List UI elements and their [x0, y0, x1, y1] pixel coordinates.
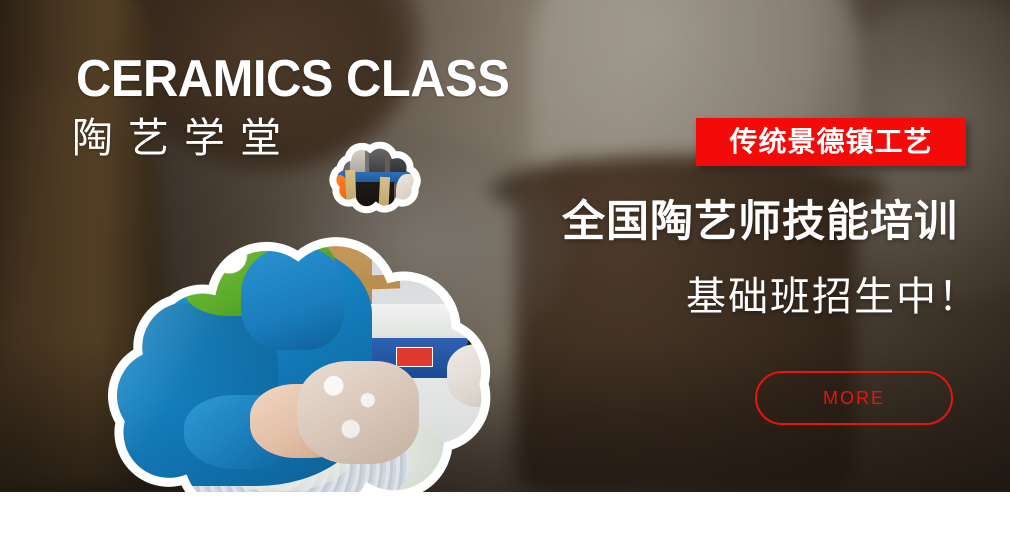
- headline-primary: 全国陶艺师技能培训: [562, 198, 958, 246]
- wooden-tool: [345, 170, 356, 218]
- more-button[interactable]: MORE: [755, 371, 953, 425]
- smock-shoulder: [241, 247, 344, 350]
- page-title-english: CERAMICS CLASS: [76, 52, 509, 106]
- cloud-photo-large: [62, 230, 532, 515]
- page-title-chinese: 陶艺学堂: [72, 115, 296, 161]
- headline-secondary: 基础班招生中！: [686, 274, 980, 320]
- machine-label: [396, 347, 434, 367]
- ceramics-class-hero-banner: CERAMICS CLASS 陶艺学堂: [0, 0, 1010, 538]
- cloud-photo-small: [318, 136, 424, 218]
- status-badge-label: 传统景德镇工艺: [729, 128, 932, 156]
- clay-covered-hands: [297, 361, 419, 464]
- bottom-white-strip: [0, 492, 1010, 538]
- status-badge: 传统景德镇工艺: [696, 118, 966, 166]
